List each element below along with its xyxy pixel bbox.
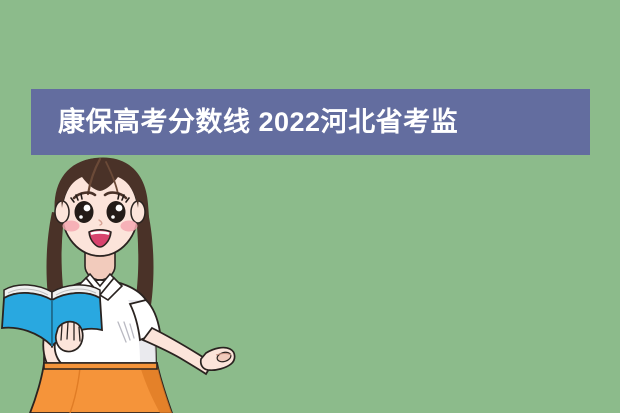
page-title: 康保高考分数线 2022河北省考监 [31,109,458,136]
blush-right [121,221,138,232]
title-banner: 康保高考分数线 2022河北省考监 [31,89,590,155]
student-girl-illustration [0,150,300,413]
blush-left [63,221,80,232]
book-cover-left [2,293,52,346]
skirt-waistband [44,363,157,369]
image-canvas: 康保高考分数线 2022河北省考监 [0,0,620,413]
hand-left [56,322,83,352]
